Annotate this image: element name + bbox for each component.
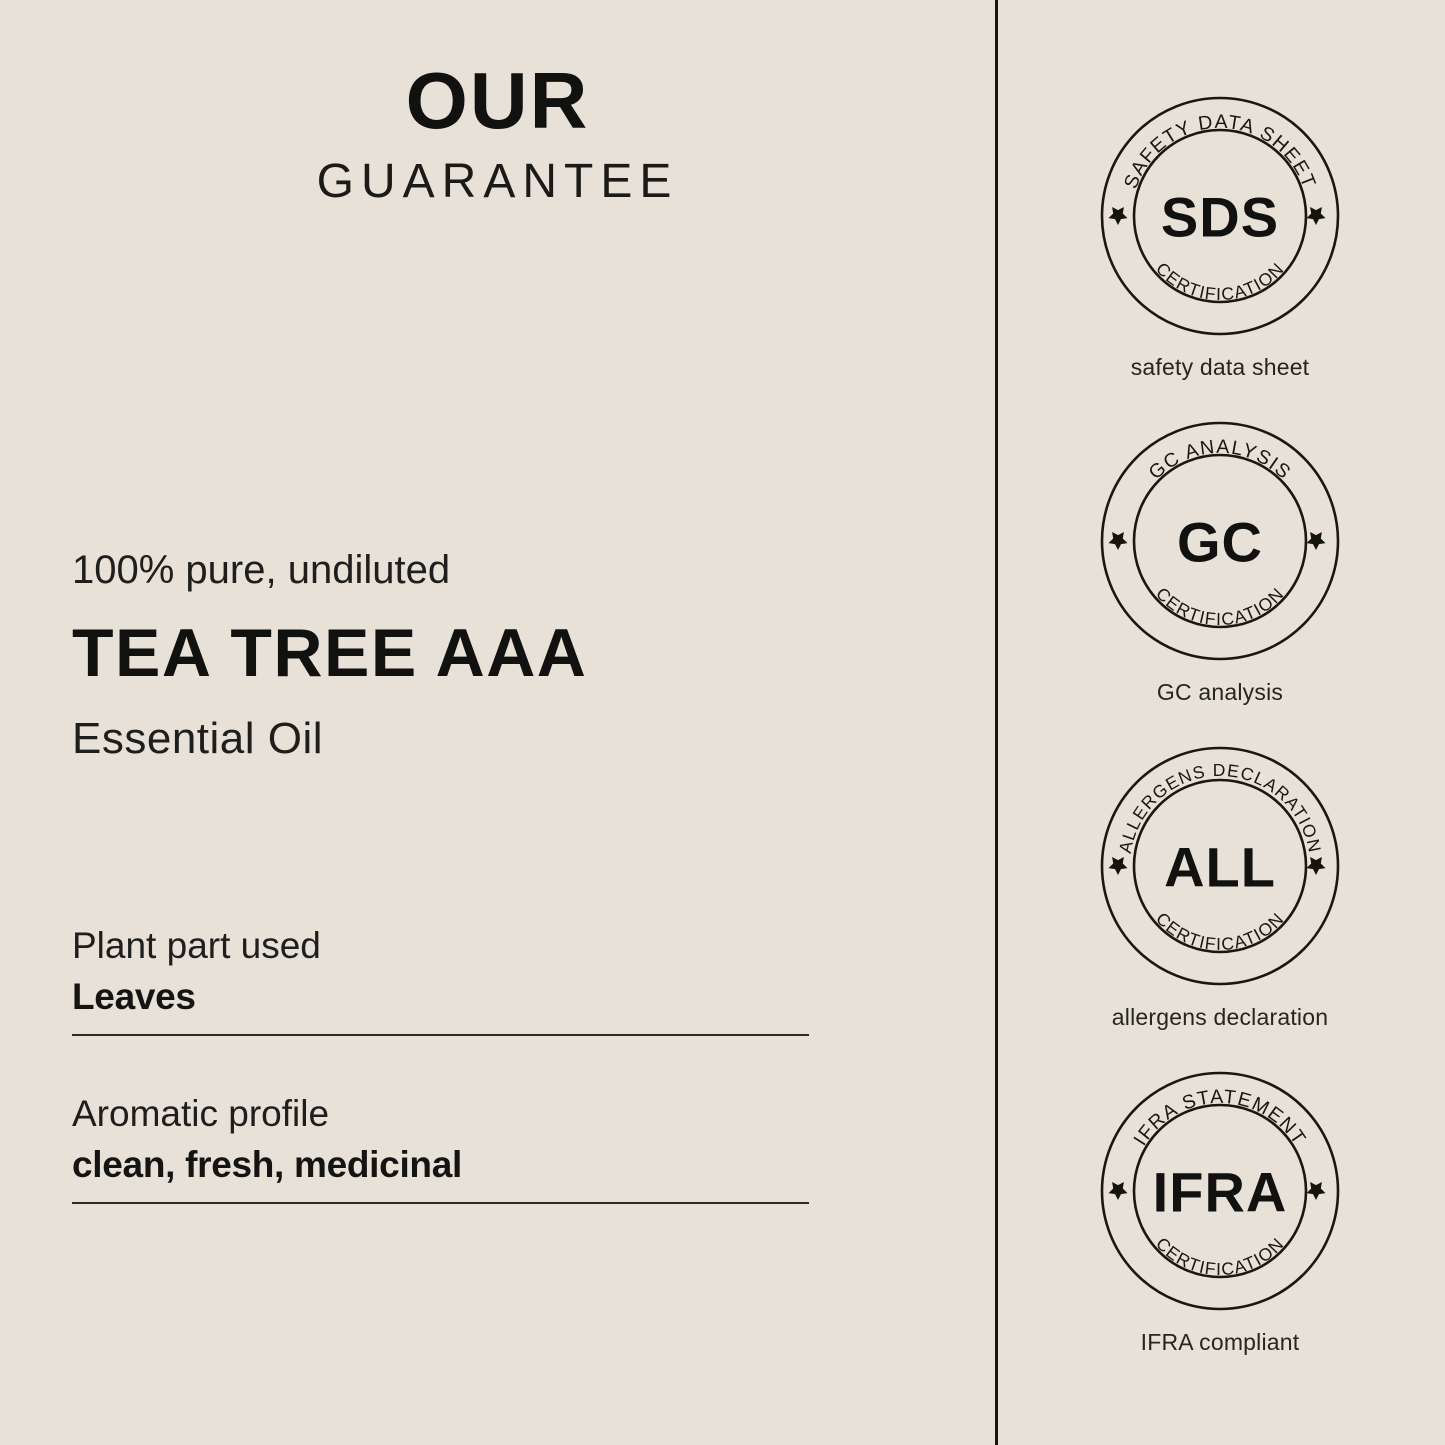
seal-stamp-icon: IFRA STATEMENT CERTIFICATION IFRA	[1100, 1071, 1340, 1311]
seal-top-textpath: GC ANALYSIS	[1145, 436, 1296, 484]
seal-top-textpath: IFRA STATEMENT	[1129, 1086, 1310, 1150]
badge-caption: IFRA compliant	[995, 1329, 1445, 1357]
spec-label: Plant part used	[72, 925, 809, 966]
seal-bottom-textpath: CERTIFICATION	[1152, 258, 1288, 304]
seal-stamp-icon: GC ANALYSIS CERTIFICATION GC	[1100, 421, 1340, 661]
seal-stamp-icon: ALLERGENS DECLARATION CERTIFICATION ALL	[1100, 746, 1340, 986]
seal-abbreviation: GC	[1177, 511, 1263, 574]
seal-stamp-icon: SAFETY DATA SHEET CERTIFICATION SDS	[1100, 96, 1340, 336]
star-left-icon	[1109, 857, 1128, 875]
star-right-icon	[1307, 532, 1326, 550]
spec-row-aromatic-profile: Aromatic profile clean, fresh, medicinal	[72, 1093, 809, 1204]
badge-caption: GC analysis	[995, 679, 1445, 707]
purity-statement: 100% pure, undiluted	[72, 548, 872, 592]
seal-abbreviation: IFRA	[1153, 1161, 1288, 1224]
list-item: SAFETY DATA SHEET CERTIFICATION SDS safe…	[995, 96, 1445, 382]
right-column: SAFETY DATA SHEET CERTIFICATION SDS safe…	[995, 0, 1445, 1445]
seal-abbreviation: SDS	[1161, 186, 1279, 249]
badge-caption: allergens declaration	[995, 1004, 1445, 1032]
seal-bottom-text: CERTIFICATION	[1152, 258, 1288, 304]
star-left-icon	[1109, 207, 1128, 225]
seal-abbreviation: ALL	[1164, 836, 1276, 899]
badge-caption: safety data sheet	[995, 354, 1445, 382]
seal-bottom-text: CERTIFICATION	[1152, 583, 1288, 629]
seal-top-text: GC ANALYSIS	[1145, 436, 1296, 484]
star-right-icon	[1307, 207, 1326, 225]
spec-label: Aromatic profile	[72, 1093, 809, 1134]
spec-list: Plant part used Leaves Aromatic profile …	[72, 925, 809, 1204]
guarantee-panel: OUR GUARANTEE 100% pure, undiluted TEA T…	[0, 0, 1445, 1445]
star-left-icon	[1109, 1182, 1128, 1200]
heading-our: OUR	[0, 62, 995, 140]
list-item: ALLERGENS DECLARATION CERTIFICATION ALL …	[995, 746, 1445, 1032]
heading-guarantee: GUARANTEE	[0, 154, 995, 209]
seal-bottom-textpath: CERTIFICATION	[1152, 908, 1288, 954]
seal-top-textpath: SAFETY DATA SHEET	[1120, 111, 1320, 192]
list-item: IFRA STATEMENT CERTIFICATION IFRA IFRA c…	[995, 1071, 1445, 1357]
star-right-icon	[1307, 857, 1326, 875]
product-type: Essential Oil	[72, 715, 872, 763]
star-left-icon	[1109, 532, 1128, 550]
product-name: TEA TREE AAA	[72, 615, 872, 691]
star-right-icon	[1307, 1182, 1326, 1200]
list-item: GC ANALYSIS CERTIFICATION GC GC analysis	[995, 421, 1445, 707]
seal-bottom-text: CERTIFICATION	[1152, 908, 1288, 954]
seal-bottom-textpath: CERTIFICATION	[1152, 1233, 1288, 1279]
spec-row-plant-part: Plant part used Leaves	[72, 925, 809, 1036]
seal-bottom-textpath: CERTIFICATION	[1152, 583, 1288, 629]
seal-bottom-text: CERTIFICATION	[1152, 1233, 1288, 1279]
seal-top-text: SAFETY DATA SHEET	[1120, 111, 1320, 192]
page-title: OUR GUARANTEE	[0, 62, 995, 210]
product-identity: 100% pure, undiluted TEA TREE AAA Essent…	[72, 548, 872, 764]
certification-badge-list: SAFETY DATA SHEET CERTIFICATION SDS safe…	[995, 0, 1445, 1445]
seal-top-text: IFRA STATEMENT	[1129, 1086, 1310, 1150]
spec-value: Leaves	[72, 976, 809, 1017]
left-column: OUR GUARANTEE 100% pure, undiluted TEA T…	[0, 0, 995, 1445]
spec-value: clean, fresh, medicinal	[72, 1144, 809, 1185]
